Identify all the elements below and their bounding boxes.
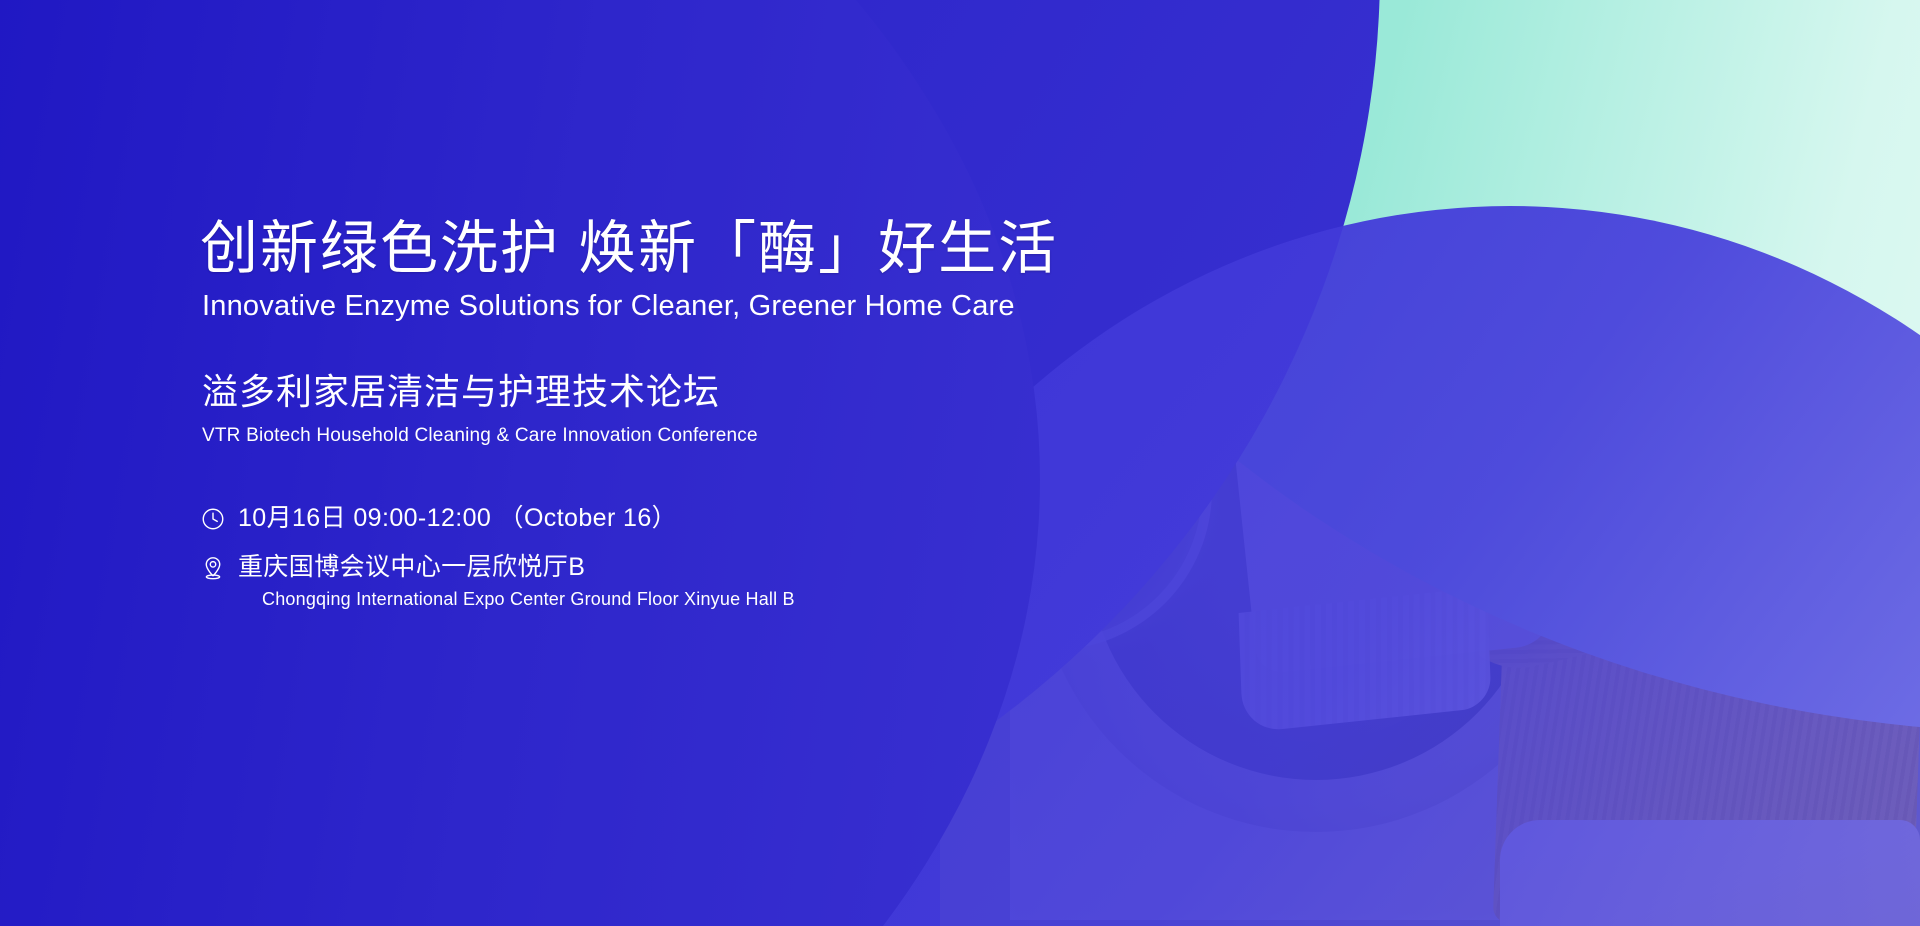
event-details: 10月16日 09:00-12:00 （October 16） 重庆国博会议中心… [200,503,1080,611]
conference-name-english: VTR Biotech Household Cleaning & Care In… [202,424,1080,449]
event-location-text: 重庆国博会议中心一层欣悦厅B [238,553,585,581]
event-location-row: 重庆国博会议中心一层欣悦厅B Chongqing International E… [200,552,1080,612]
page-title: 创新绿色洗护 焕新「酶」好生活 [200,218,1080,279]
clock-icon [200,506,226,532]
page-title-english: Innovative Enzyme Solutions for Cleaner,… [202,289,1080,324]
event-datetime-text: 10月16日 09:00-12:00 （October 16） [238,503,677,534]
banner-content: 创新绿色洗护 焕新「酶」好生活 Innovative Enzyme Soluti… [200,218,1080,630]
event-banner: 创新绿色洗护 焕新「酶」好生活 Innovative Enzyme Soluti… [0,0,1920,926]
conference-name: 溢多利家居清洁与护理技术论坛 [202,370,1080,413]
event-datetime-row: 10月16日 09:00-12:00 （October 16） [200,503,1080,534]
location-pin-icon [200,555,226,581]
event-location-block: 重庆国博会议中心一层欣悦厅B Chongqing International E… [238,552,795,612]
event-location-text-english: Chongqing International Expo Center Grou… [262,588,795,611]
